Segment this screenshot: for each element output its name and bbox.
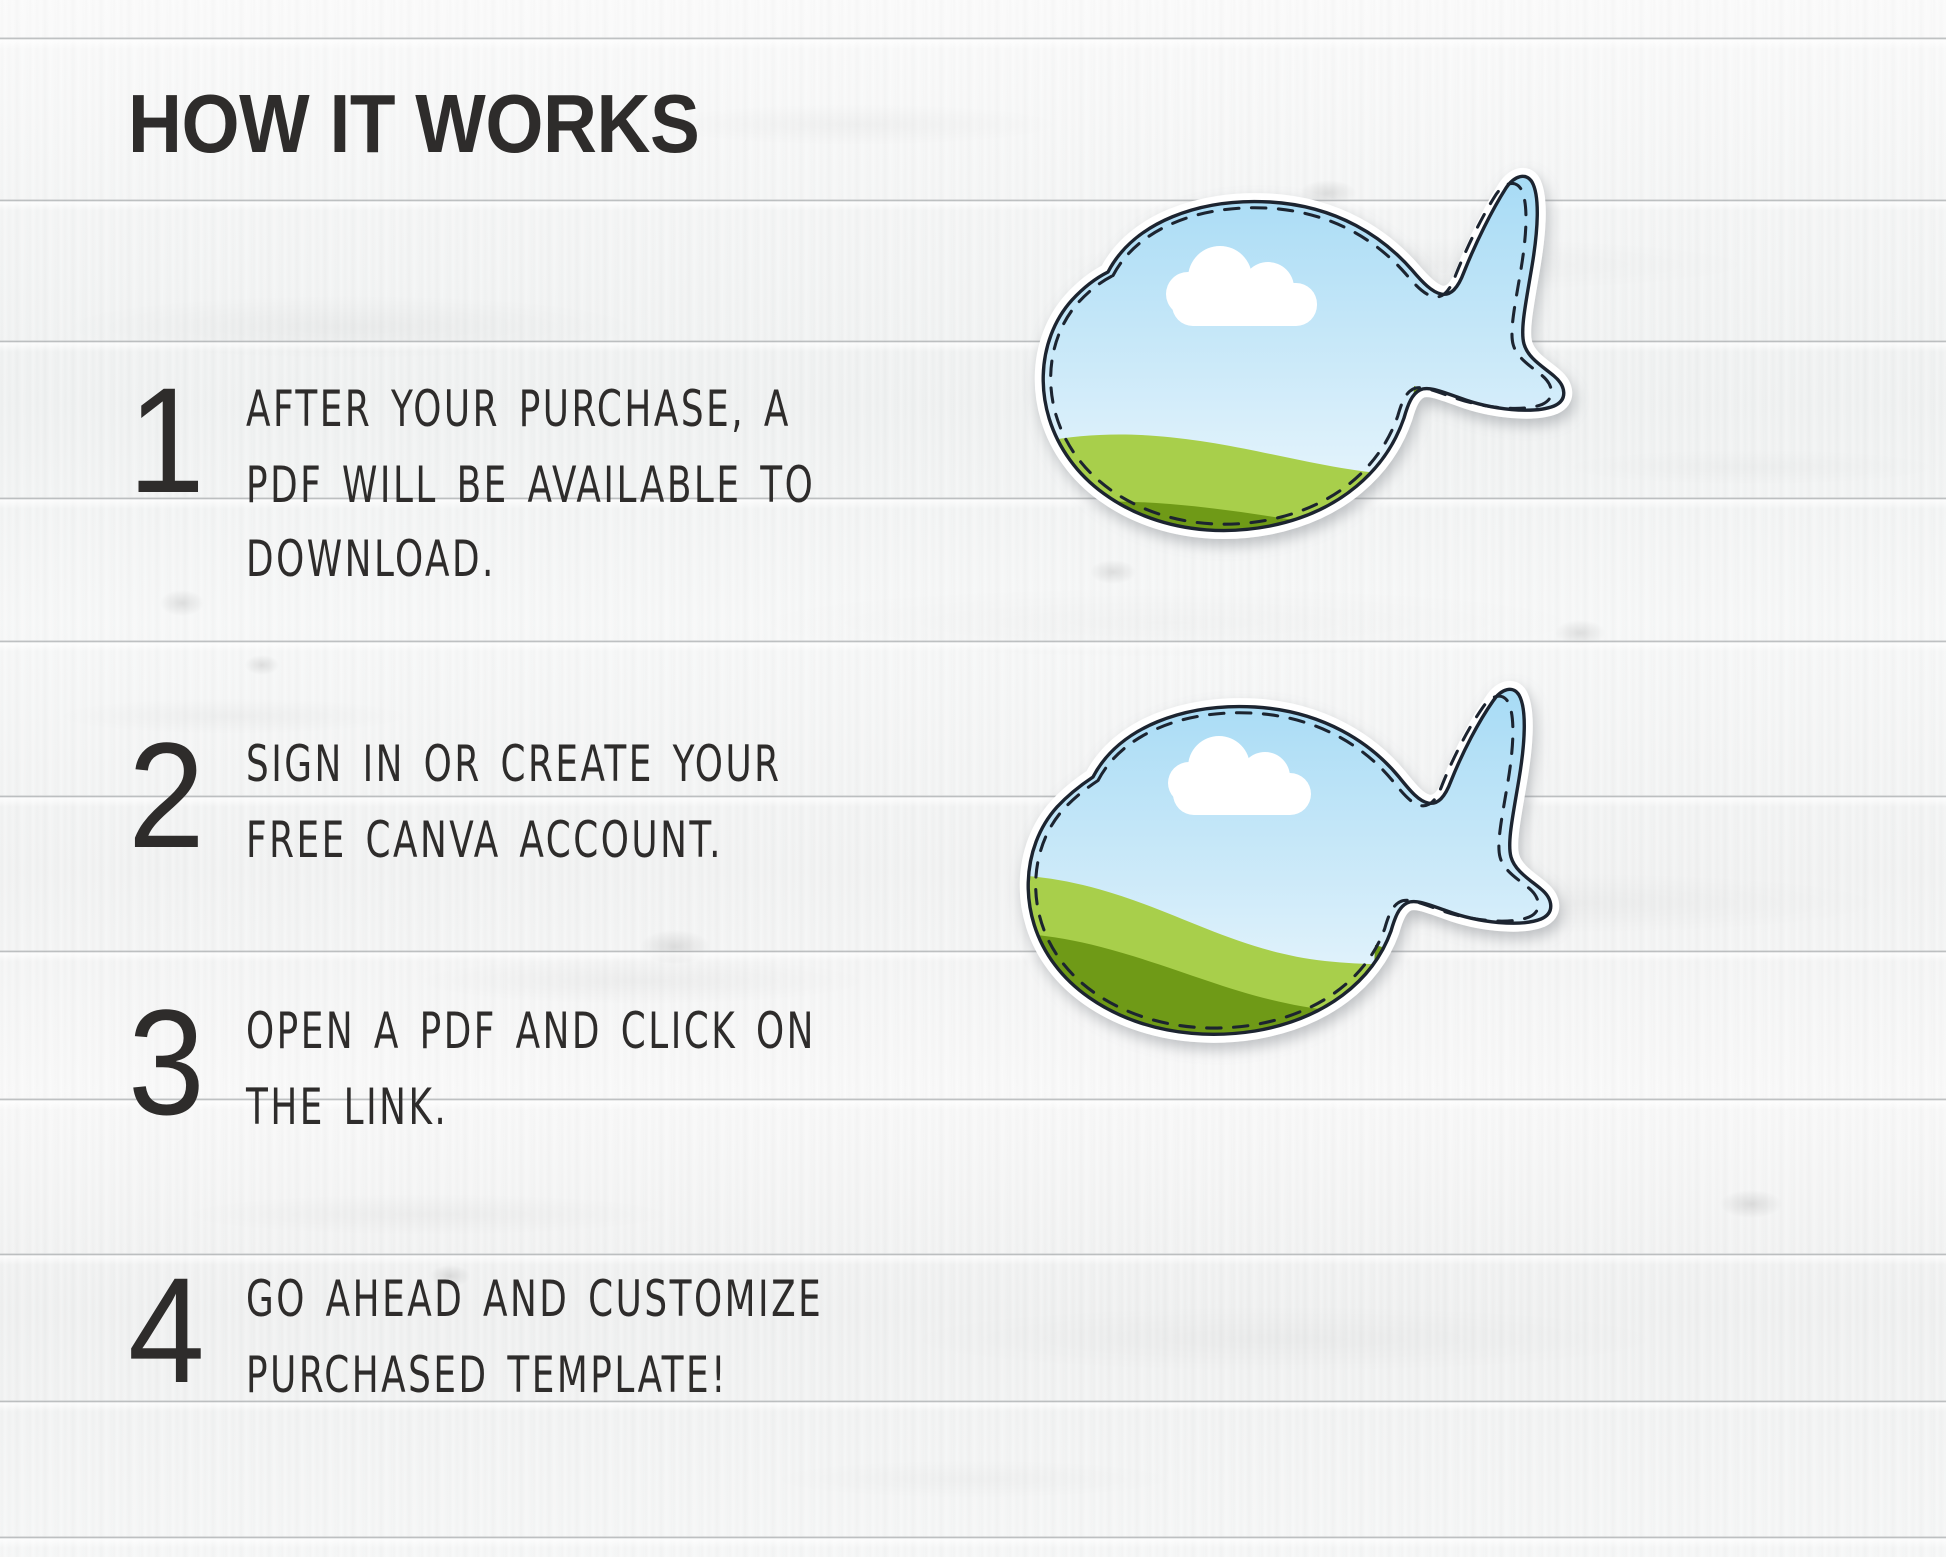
step-item: 1 AFTER YOUR PURCHASE, A PDF WILL BE AVA… xyxy=(128,370,833,557)
step-text-line: PURCHASED TEMPLATE! xyxy=(246,1337,823,1412)
hill-dark xyxy=(900,502,1600,590)
step-item: 2 SIGN IN OR CREATE YOUR FREE CANVA ACCO… xyxy=(128,725,798,866)
step-text-line: SIGN IN OR CREATE YOUR xyxy=(246,727,782,802)
cloud-icon xyxy=(947,358,977,388)
step-text-line: PDF WILL BE AVAILABLE TO xyxy=(246,447,815,522)
step-number: 3 xyxy=(128,992,237,1133)
step-item: 4 GO AHEAD AND CUSTOMIZE PURCHASED TEMPL… xyxy=(128,1260,841,1401)
step-number: 4 xyxy=(128,1260,237,1401)
step-text-line: FREE CANVA ACCOUNT. xyxy=(246,802,782,877)
fish-sticker-bottom xyxy=(905,655,1545,1075)
step-text-line: THE LINK. xyxy=(246,1069,816,1144)
step-item: 3 OPEN A PDF AND CLICK ON THE LINK. xyxy=(128,992,834,1133)
step-number: 2 xyxy=(128,725,237,866)
step-text: SIGN IN OR CREATE YOUR FREE CANVA ACCOUN… xyxy=(246,725,782,878)
tail-green-tip xyxy=(1373,945,1569,995)
step-text-line: DOWNLOAD. xyxy=(246,523,815,598)
step-text-line: GO AHEAD AND CUSTOMIZE xyxy=(246,1262,823,1337)
step-text: GO AHEAD AND CUSTOMIZE PURCHASED TEMPLAT… xyxy=(246,1260,823,1413)
step-number: 1 xyxy=(128,370,237,511)
step-text-line: AFTER YOUR PURCHASE, A xyxy=(246,372,815,447)
fish-sticker-top xyxy=(920,160,1560,580)
step-text: AFTER YOUR PURCHASE, A PDF WILL BE AVAIL… xyxy=(246,370,815,598)
step-text-line: OPEN A PDF AND CLICK ON xyxy=(246,994,816,1069)
page-title: HOW IT WORKS xyxy=(128,82,699,165)
hill-light xyxy=(900,434,1600,590)
step-text: OPEN A PDF AND CLICK ON THE LINK. xyxy=(246,992,816,1145)
cloud-icon xyxy=(940,836,970,866)
